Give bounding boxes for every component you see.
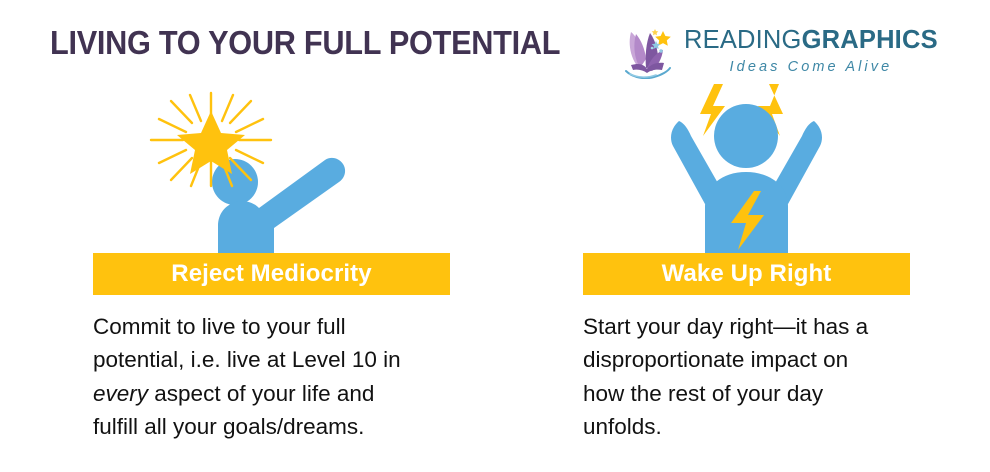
body-line: disproportionate impact on [583, 343, 910, 376]
banner-wake-up-right: Wake Up Right [583, 253, 910, 295]
energized-person-with-lightning-icon [583, 78, 910, 253]
body-line: how the rest of your day [583, 377, 910, 410]
body-line: fulfill all your goals/dreams. [93, 410, 450, 443]
card-wake-up-right: Wake Up Right Start your day right—it ha… [583, 78, 910, 443]
body-line: potential, i.e. live at Level 10 in [93, 343, 450, 376]
body-emphasis: every [93, 381, 148, 406]
logo-word-reading: READING [684, 26, 802, 54]
person-reaching-for-star-icon [93, 78, 450, 253]
banner-label: Reject Mediocrity [171, 260, 371, 288]
banner-label: Wake Up Right [662, 260, 832, 288]
card-reject-mediocrity: Reject Mediocrity Commit to live to your… [93, 78, 450, 443]
body-text-wake-up-right: Start your day right—it has a disproport… [583, 310, 910, 443]
body-line: Start your day right—it has a [583, 310, 910, 343]
logo-tagline: Ideas Come Alive [684, 60, 938, 75]
body-line-rest: aspect of your life and [148, 381, 374, 406]
brand-logo: READINGGRAPHICS Ideas Come Alive [618, 20, 918, 82]
banner-reject-mediocrity: Reject Mediocrity [93, 253, 450, 295]
body-line: Commit to live to your full [93, 310, 450, 343]
open-book-with-stars-icon [618, 23, 680, 79]
body-line: every aspect of your life and [93, 377, 450, 410]
logo-wordmark: READINGGRAPHICS [684, 28, 938, 54]
logo-text: READINGGRAPHICS Ideas Come Alive [684, 28, 938, 75]
body-line: unfolds. [583, 410, 910, 443]
body-text-reject-mediocrity: Commit to live to your full potential, i… [93, 310, 450, 443]
logo-word-graphics: GRAPHICS [802, 26, 938, 54]
page-title: LIVING TO YOUR FULL POTENTIAL [50, 24, 560, 62]
